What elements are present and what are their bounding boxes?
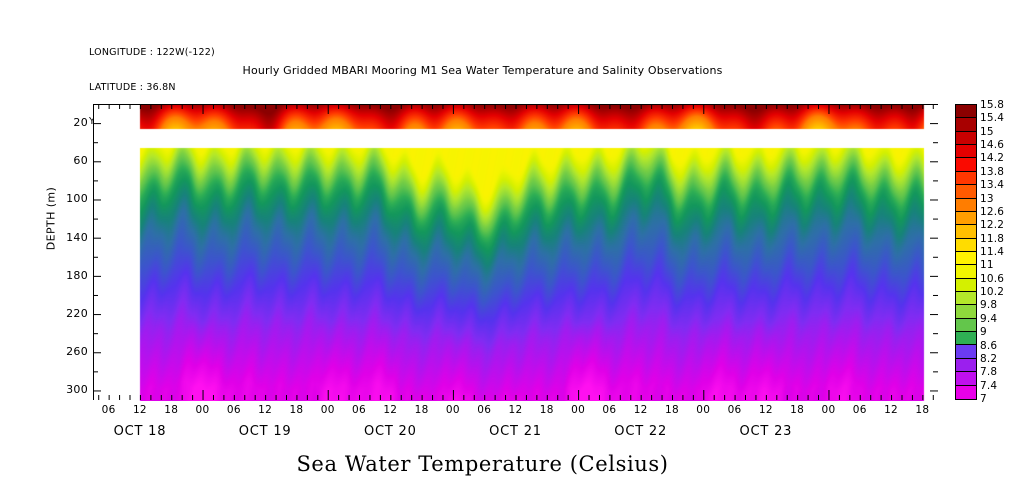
x-hour-tick-label: 12 xyxy=(133,404,147,416)
colorbar-tick-label: 9.8 xyxy=(980,299,997,311)
colorbar-band xyxy=(956,225,976,238)
x-hour-tick-label: 18 xyxy=(665,404,679,416)
colorbar-tick-label: 11.8 xyxy=(980,233,1004,245)
y-tick-label: 100 xyxy=(48,192,88,205)
colorbar-band xyxy=(956,305,976,318)
y-tick-label: 260 xyxy=(48,345,88,358)
colorbar-band xyxy=(956,145,976,158)
colorbar-band xyxy=(956,158,976,171)
colorbar-tick-label: 11.4 xyxy=(980,246,1004,258)
longitude-text: LONGITUDE : 122W(-122) xyxy=(89,47,215,59)
y-tick-label: 220 xyxy=(48,307,88,320)
colorbar-tick-label: 11 xyxy=(980,259,994,271)
colorbar-band xyxy=(956,132,976,145)
x-hour-tick-label: 18 xyxy=(289,404,303,416)
colorbar-band xyxy=(956,199,976,212)
x-hour-tick-label: 12 xyxy=(884,404,898,416)
x-day-label: OCT 19 xyxy=(239,424,292,439)
colorbar-tick-label: 10.2 xyxy=(980,286,1004,298)
colorbar-band xyxy=(956,319,976,332)
x-hour-tick-label: 18 xyxy=(540,404,554,416)
colorbar-tick-label: 13 xyxy=(980,193,994,205)
x-hour-tick-label: 06 xyxy=(102,404,116,416)
x-hour-tick-label: 18 xyxy=(415,404,429,416)
x-hour-tick-label: 06 xyxy=(602,404,616,416)
x-hour-tick-label: 06 xyxy=(477,404,491,416)
x-hour-tick-label: 12 xyxy=(634,404,648,416)
colorbar-tick-label: 14.2 xyxy=(980,152,1004,164)
x-hour-tick-label: 18 xyxy=(790,404,804,416)
colorbar-band xyxy=(956,292,976,305)
colorbar-band xyxy=(956,185,976,198)
colorbar-band xyxy=(956,386,976,399)
x-hour-tick-label: 00 xyxy=(696,404,710,416)
x-hour-tick-label: 06 xyxy=(352,404,366,416)
heatmap-canvas xyxy=(94,105,939,401)
colorbar-tick-label: 8.6 xyxy=(980,340,997,352)
y-tick-label: 20 xyxy=(48,116,88,129)
x-hour-tick-label: 12 xyxy=(509,404,523,416)
colorbar-tick-label: 7 xyxy=(980,393,987,405)
x-hour-tick-label: 06 xyxy=(227,404,241,416)
colorbar-band xyxy=(956,212,976,225)
x-hour-tick-label: 18 xyxy=(164,404,178,416)
x-hour-tick-label: 12 xyxy=(258,404,272,416)
x-axis-hour-labels: 0612180006121800061218000612180006121800… xyxy=(93,404,938,420)
colorbar-band xyxy=(956,105,976,118)
x-day-label: OCT 21 xyxy=(489,424,542,439)
figure-caption: Sea Water Temperature (Celsius) xyxy=(0,452,987,476)
heatmap-plot-area xyxy=(93,104,938,400)
x-hour-tick-label: 00 xyxy=(821,404,835,416)
colorbar-band xyxy=(956,265,976,278)
colorbar-tick-label: 7.8 xyxy=(980,366,997,378)
colorbar-tick-label: 13.8 xyxy=(980,166,1004,178)
colorbar-tick-label: 13.4 xyxy=(980,179,1004,191)
colorbar xyxy=(955,104,977,400)
colorbar-band xyxy=(956,252,976,265)
colorbar-band xyxy=(956,359,976,372)
colorbar-band xyxy=(956,118,976,131)
y-tick-label: 300 xyxy=(48,383,88,396)
y-axis-tick-labels: 2060100140180220260300 xyxy=(43,0,88,504)
colorbar-tick-label: 15 xyxy=(980,126,994,138)
y-tick-label: 60 xyxy=(48,154,88,167)
colorbar-tick-label: 10.6 xyxy=(980,273,1004,285)
colorbar-tick-label: 12.6 xyxy=(980,206,1004,218)
colorbar-band xyxy=(956,345,976,358)
x-hour-tick-label: 00 xyxy=(571,404,585,416)
y-tick-label: 180 xyxy=(48,269,88,282)
latitude-text: LATITUDE : 36.8N xyxy=(89,82,215,94)
colorbar-tick-label: 7.4 xyxy=(980,380,997,392)
x-hour-tick-label: 06 xyxy=(853,404,867,416)
colorbar-tick-label: 9 xyxy=(980,326,987,338)
colorbar-band xyxy=(956,172,976,185)
colorbar-tick-label: 15.8 xyxy=(980,99,1004,111)
y-tick-label: 140 xyxy=(48,231,88,244)
colorbar-tick-label: 14.6 xyxy=(980,139,1004,151)
plot-title: Hourly Gridded MBARI Mooring M1 Sea Wate… xyxy=(0,64,987,77)
x-hour-tick-label: 00 xyxy=(446,404,460,416)
colorbar-band xyxy=(956,332,976,345)
colorbar-tick-label: 15.4 xyxy=(980,112,1004,124)
x-hour-tick-label: 12 xyxy=(383,404,397,416)
x-day-label: OCT 23 xyxy=(739,424,792,439)
x-hour-tick-label: 18 xyxy=(915,404,929,416)
colorbar-band xyxy=(956,239,976,252)
x-axis-day-labels: OCT 18OCT 19OCT 20OCT 21OCT 22OCT 23 xyxy=(93,424,938,444)
x-hour-tick-label: 06 xyxy=(728,404,742,416)
colorbar-band xyxy=(956,372,976,385)
colorbar-tick-label: 8.2 xyxy=(980,353,997,365)
x-day-label: OCT 18 xyxy=(114,424,167,439)
x-hour-tick-label: 00 xyxy=(196,404,210,416)
x-hour-tick-label: 00 xyxy=(321,404,335,416)
x-hour-tick-label: 12 xyxy=(759,404,773,416)
colorbar-tick-label: 9.4 xyxy=(980,313,997,325)
colorbar-tick-labels: 15.815.41514.614.213.813.41312.612.211.8… xyxy=(980,104,1009,414)
x-day-label: OCT 22 xyxy=(614,424,667,439)
x-day-label: OCT 20 xyxy=(364,424,417,439)
colorbar-band xyxy=(956,279,976,292)
colorbar-tick-label: 12.2 xyxy=(980,219,1004,231)
